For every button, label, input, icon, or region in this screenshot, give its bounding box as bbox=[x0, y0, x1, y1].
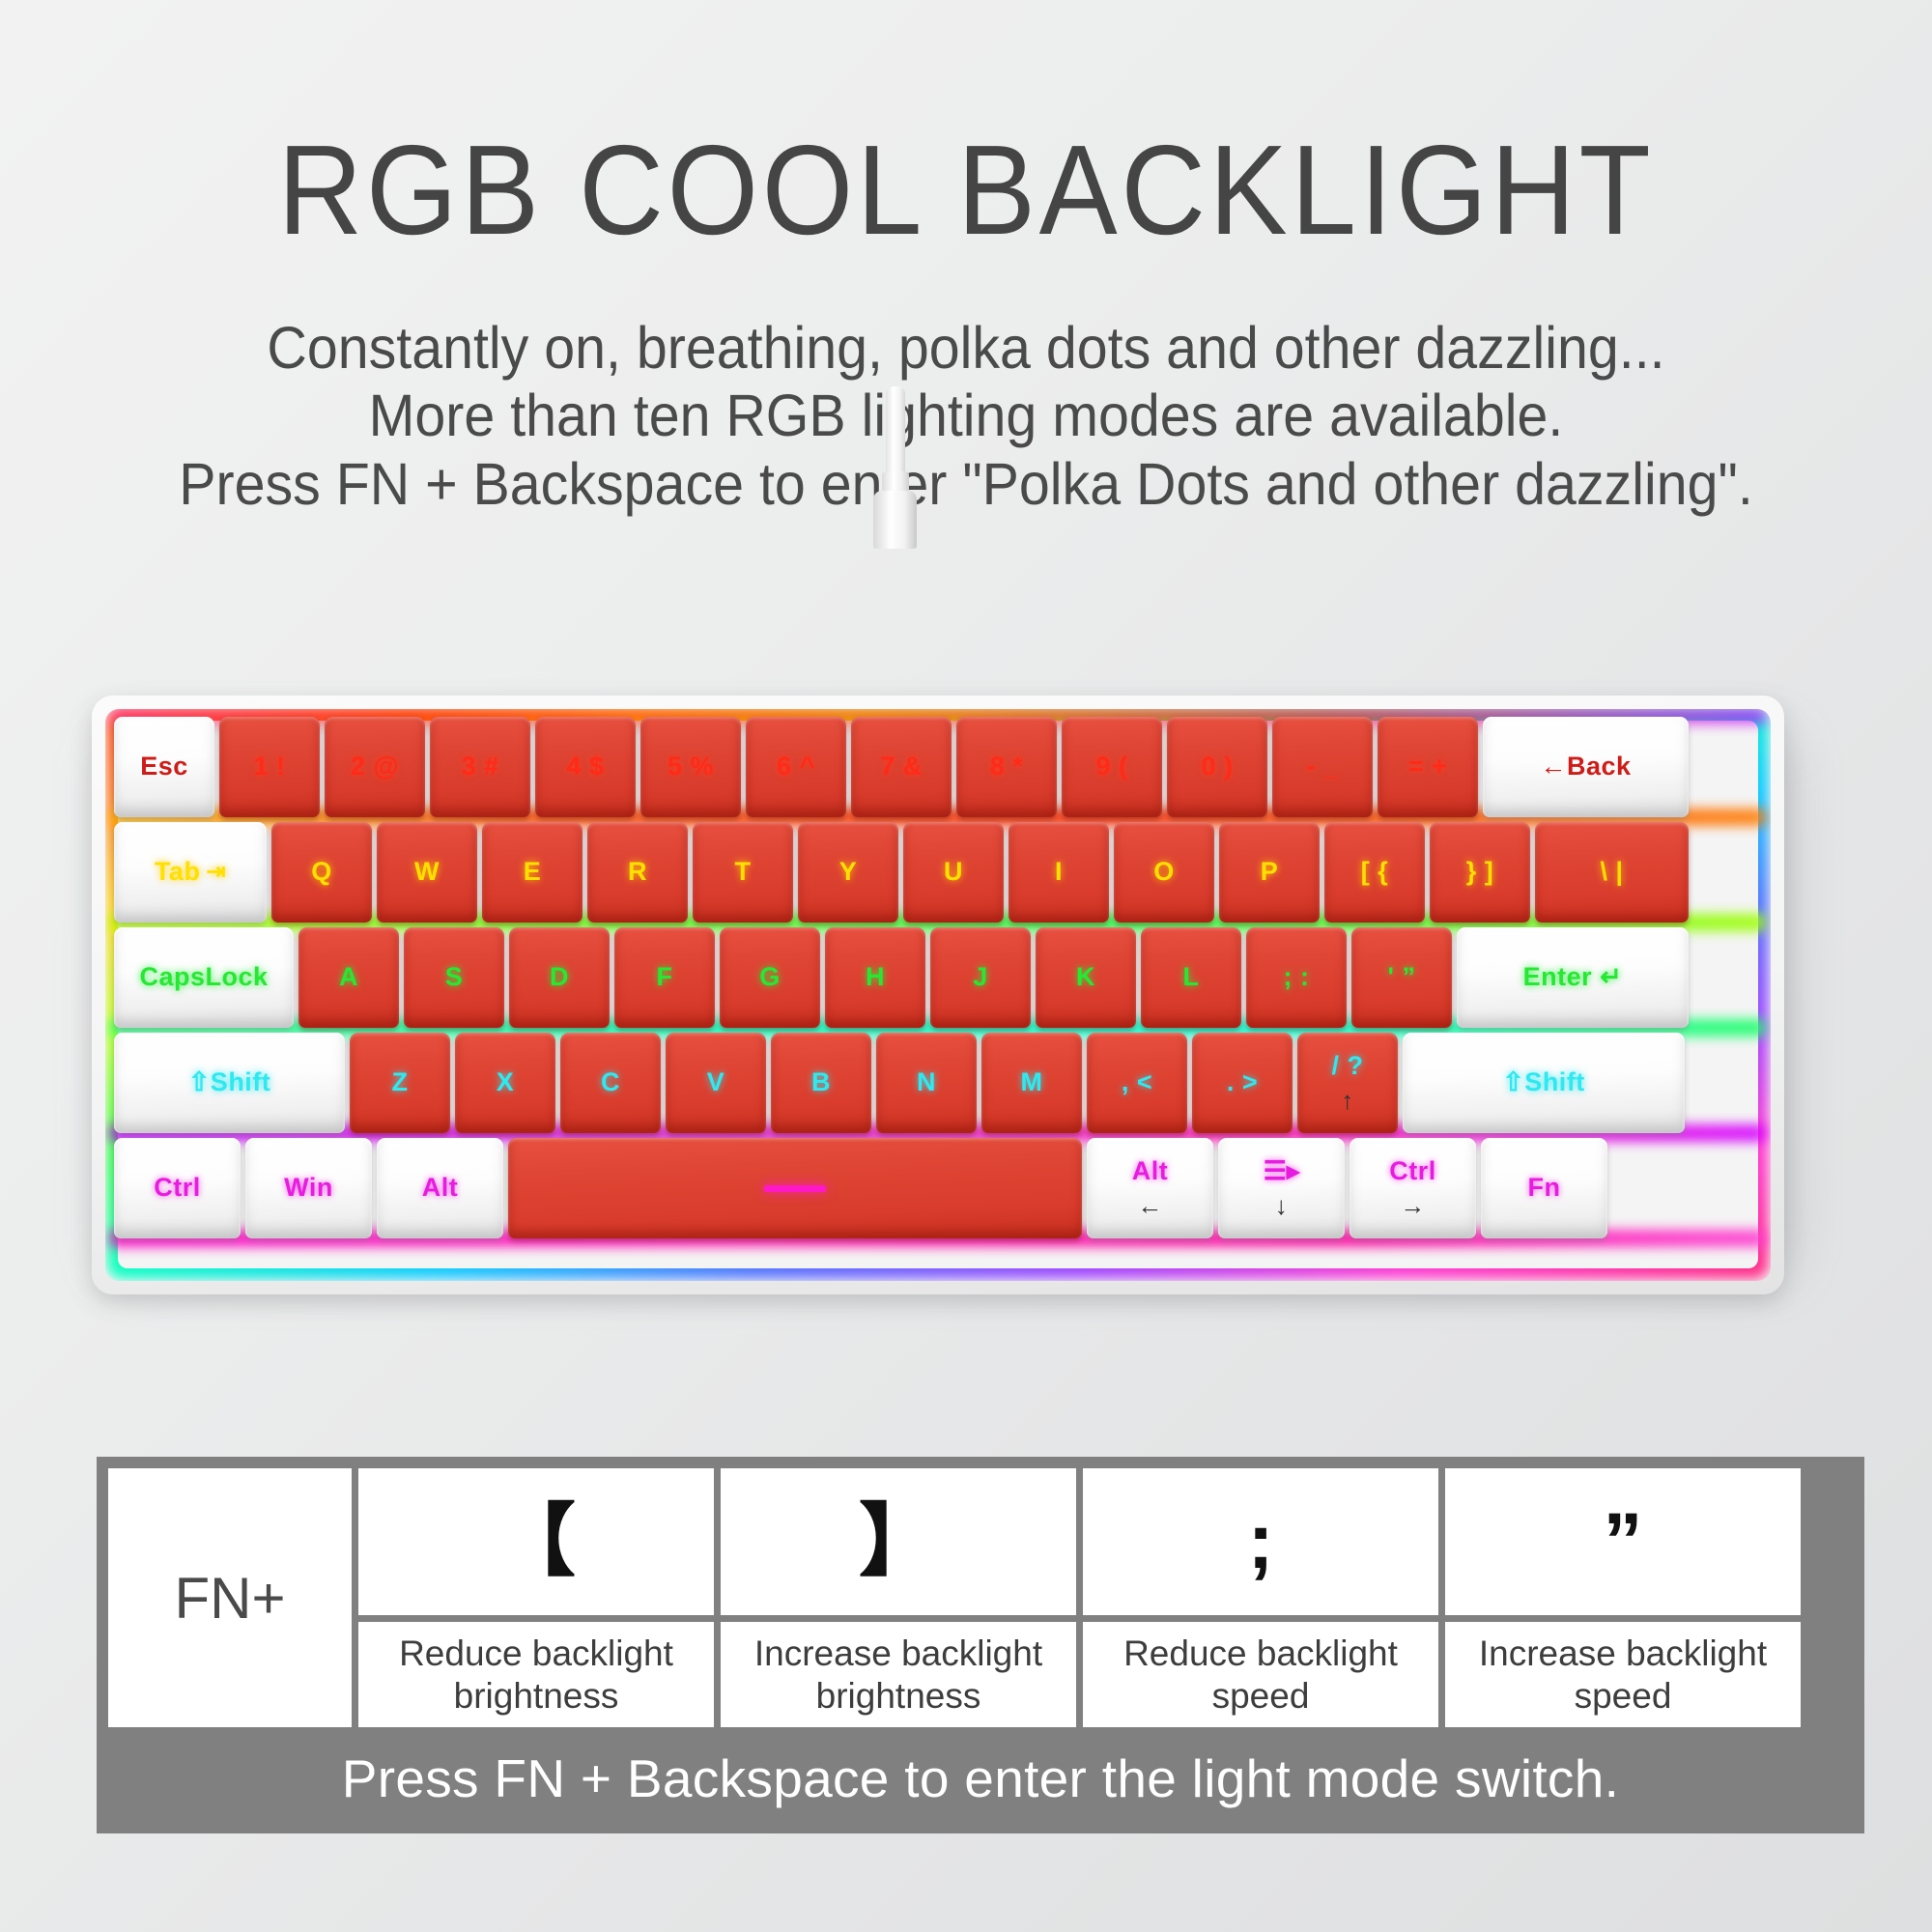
key-legend: W bbox=[414, 858, 440, 887]
key-alt[interactable]: Alt bbox=[377, 1138, 503, 1238]
keycap: E bbox=[482, 822, 582, 923]
key-g[interactable]: G bbox=[720, 927, 820, 1028]
key-legend: Ctrl bbox=[154, 1174, 201, 1203]
key-label: 4 $ bbox=[566, 753, 604, 781]
key-l[interactable]: L bbox=[1141, 927, 1241, 1028]
key-label: Fn bbox=[1528, 1174, 1561, 1203]
key-label: 0 ) bbox=[1201, 753, 1233, 781]
fn-entry-description: Reduce backlight brightness bbox=[358, 1622, 714, 1727]
keycap: [ { bbox=[1324, 822, 1425, 923]
keycap: Enter ↵ bbox=[1457, 927, 1689, 1028]
key-space[interactable]: ; : bbox=[1246, 927, 1347, 1028]
key-label: Tab bbox=[155, 858, 201, 887]
keycap: . > bbox=[1192, 1033, 1293, 1133]
key-label: W bbox=[414, 858, 440, 887]
key-6[interactable]: 6 ^ bbox=[746, 717, 846, 817]
keycap: Y bbox=[798, 822, 898, 923]
keycap: B bbox=[771, 1033, 871, 1133]
fn-grid: FN+ 【Reduce backlight brightness】Increas… bbox=[108, 1468, 1853, 1727]
keycap: K bbox=[1036, 927, 1136, 1028]
key-9[interactable]: 9 ( bbox=[1062, 717, 1162, 817]
key-legend: U bbox=[944, 858, 963, 887]
key-label: Alt bbox=[422, 1174, 459, 1203]
key-space[interactable]: / ?↑ bbox=[1297, 1033, 1398, 1133]
keycap: Q bbox=[271, 822, 372, 923]
key-label: K bbox=[1076, 963, 1095, 992]
header: RGB COOL BACKLIGHT Constantly on, breath… bbox=[0, 0, 1932, 519]
key-h[interactable]: H bbox=[825, 927, 925, 1028]
key-label: R bbox=[628, 858, 647, 887]
key-space[interactable] bbox=[508, 1138, 1082, 1238]
page-title: RGB COOL BACKLIGHT bbox=[77, 124, 1855, 258]
key-2[interactable]: 2 @ bbox=[325, 717, 425, 817]
keycap: P bbox=[1219, 822, 1320, 923]
key-legend: Z bbox=[392, 1068, 409, 1097]
key-legend: F bbox=[657, 963, 673, 992]
key-label: CapsLock bbox=[139, 963, 268, 992]
subtitle-line-1: Constantly on, breathing, polka dots and… bbox=[58, 314, 1874, 383]
fn-banner: Press FN + Backspace to enter the light … bbox=[108, 1737, 1853, 1820]
key-legend: 1 ! bbox=[253, 753, 285, 781]
key-alt[interactable]: Alt← bbox=[1087, 1138, 1213, 1238]
key-fn[interactable]: Fn bbox=[1481, 1138, 1607, 1238]
fn-entry-description: Reduce backlight speed bbox=[1083, 1622, 1438, 1727]
key-legend: T bbox=[735, 858, 752, 887]
key-3[interactable]: 3 # bbox=[430, 717, 530, 817]
key-legend: Ctrl bbox=[1389, 1157, 1436, 1186]
key-legend: 8 * bbox=[990, 753, 1024, 781]
key-back[interactable]: ←Back bbox=[1483, 717, 1689, 817]
keycap: 2 @ bbox=[325, 717, 425, 817]
key-label: F bbox=[657, 963, 673, 992]
key-j[interactable]: J bbox=[930, 927, 1031, 1028]
key-s[interactable]: S bbox=[404, 927, 504, 1028]
fn-entry-column-4: ”Increase backlight speed bbox=[1445, 1468, 1801, 1727]
key-space[interactable]: . > bbox=[1192, 1033, 1293, 1133]
key-e[interactable]: E bbox=[482, 822, 582, 923]
key-legend: Alt bbox=[422, 1174, 459, 1203]
keycap: 0 ) bbox=[1167, 717, 1267, 817]
key-label: Ctrl bbox=[1389, 1157, 1436, 1186]
menu-icon: ☰▸ bbox=[1264, 1157, 1300, 1186]
key-legend: C bbox=[601, 1068, 620, 1097]
key-x[interactable]: X bbox=[455, 1033, 555, 1133]
key-legend: Enter ↵ bbox=[1523, 963, 1623, 992]
key-legend: 6 ^ bbox=[777, 753, 815, 781]
key-r[interactable]: R bbox=[587, 822, 688, 923]
keycap: \ | bbox=[1535, 822, 1689, 923]
key-secondary-arrow-icon: → bbox=[1400, 1192, 1426, 1220]
fn-entry-key: ” bbox=[1445, 1468, 1801, 1615]
key-b[interactable]: B bbox=[771, 1033, 871, 1133]
key-n[interactable]: N bbox=[876, 1033, 977, 1133]
key-legend: [ { bbox=[1361, 858, 1389, 887]
key-legend: J bbox=[973, 963, 988, 992]
key-label: ⇧Shift bbox=[1502, 1068, 1585, 1097]
key-space[interactable]: = + bbox=[1378, 717, 1478, 817]
keycap: F bbox=[614, 927, 715, 1028]
key-label: Esc bbox=[140, 753, 188, 781]
keycap: N bbox=[876, 1033, 977, 1133]
keycap: Ctrl→ bbox=[1350, 1138, 1476, 1238]
key-q[interactable]: Q bbox=[271, 822, 372, 923]
key-legend: } ] bbox=[1466, 858, 1494, 887]
keycap: ' ” bbox=[1351, 927, 1452, 1028]
keycap: X bbox=[455, 1033, 555, 1133]
keycap: M bbox=[981, 1033, 1082, 1133]
key-shift[interactable]: ⇧Shift bbox=[114, 1033, 345, 1133]
keycap: ⇧Shift bbox=[1403, 1033, 1685, 1133]
key-label: Enter ↵ bbox=[1523, 963, 1623, 992]
key-space[interactable]: , < bbox=[1087, 1033, 1187, 1133]
key-legend: Fn bbox=[1528, 1174, 1561, 1203]
keycap: D bbox=[509, 927, 610, 1028]
key-label: ; : bbox=[1284, 963, 1310, 992]
fn-shortcut-table: FN+ 【Reduce backlight brightness】Increas… bbox=[97, 1457, 1864, 1833]
keycap: T bbox=[693, 822, 793, 923]
key-a[interactable]: A bbox=[298, 927, 399, 1028]
key-menu-icon[interactable]: ☰▸↓ bbox=[1218, 1138, 1345, 1238]
key-label: O bbox=[1153, 858, 1175, 887]
keyboard-row-shift-row: ⇧ShiftZXCVBNM, <. >/ ?↑⇧Shift bbox=[114, 1033, 1762, 1133]
keycap: C bbox=[560, 1033, 661, 1133]
fn-label-column: FN+ bbox=[108, 1468, 352, 1727]
key-label: D bbox=[550, 963, 569, 992]
key-label: J bbox=[973, 963, 988, 992]
key-space[interactable]: - _ bbox=[1272, 717, 1373, 817]
key-label: X bbox=[497, 1068, 515, 1097]
cable-plug bbox=[873, 491, 917, 549]
keycap: Win bbox=[245, 1138, 372, 1238]
key-t[interactable]: T bbox=[693, 822, 793, 923]
key-label: ' ” bbox=[1388, 963, 1416, 992]
key-legend: Q bbox=[311, 858, 332, 887]
key-p[interactable]: P bbox=[1219, 822, 1320, 923]
key-legend: I bbox=[1055, 858, 1063, 887]
key-legend: , < bbox=[1122, 1068, 1152, 1097]
keycap: 7 & bbox=[851, 717, 952, 817]
key-label: N bbox=[917, 1068, 936, 1097]
fn-entry-column-3: ;Reduce backlight speed bbox=[1083, 1468, 1438, 1727]
key-o[interactable]: O bbox=[1114, 822, 1214, 923]
keycap: 8 * bbox=[956, 717, 1057, 817]
key-label: - _ bbox=[1306, 753, 1338, 781]
fn-entry-key: ; bbox=[1083, 1468, 1438, 1615]
key-legend: 0 ) bbox=[1201, 753, 1233, 781]
keycap: ⇧Shift bbox=[114, 1033, 345, 1133]
key-label: G bbox=[759, 963, 781, 992]
key-legend: E bbox=[524, 858, 542, 887]
keycap bbox=[508, 1138, 1082, 1238]
keycap: 9 ( bbox=[1062, 717, 1162, 817]
key-legend: Tab⇥ bbox=[155, 858, 226, 887]
keycap: 6 ^ bbox=[746, 717, 846, 817]
keyboard-row-qwerty-row: Tab⇥QWERTYUIOP[ {} ]\ | bbox=[114, 822, 1762, 923]
key-legend bbox=[764, 1185, 826, 1192]
key-label: S bbox=[445, 963, 464, 992]
keycap: I bbox=[1009, 822, 1109, 923]
key-label: Win bbox=[284, 1174, 333, 1203]
key-label: 2 @ bbox=[351, 753, 399, 781]
keycap: Alt bbox=[377, 1138, 503, 1238]
fn-entry-description: Increase backlight brightness bbox=[721, 1622, 1076, 1727]
keycap: CapsLock bbox=[114, 927, 294, 1028]
key-space[interactable]: [ { bbox=[1324, 822, 1425, 923]
key-legend: V bbox=[707, 1068, 725, 1097]
key-ctrl[interactable]: Ctrl bbox=[114, 1138, 241, 1238]
key-ctrl[interactable]: Ctrl→ bbox=[1350, 1138, 1476, 1238]
keycap: S bbox=[404, 927, 504, 1028]
key-legend: G bbox=[759, 963, 781, 992]
key-label: L bbox=[1183, 963, 1200, 992]
key-legend: / ? bbox=[1332, 1052, 1364, 1081]
key-label: E bbox=[524, 858, 542, 887]
subtitle-line-2: More than ten RGB lighting modes are ava… bbox=[58, 382, 1874, 450]
key-capslock[interactable]: CapsLock bbox=[114, 927, 294, 1028]
key-k[interactable]: K bbox=[1036, 927, 1136, 1028]
key-legend: \ | bbox=[1600, 858, 1623, 887]
key-legend: 4 $ bbox=[566, 753, 604, 781]
key-enter[interactable]: Enter ↵ bbox=[1457, 927, 1689, 1028]
fn-entry-key: 【 bbox=[358, 1468, 714, 1615]
key-win[interactable]: Win bbox=[245, 1138, 372, 1238]
key-legend: CapsLock bbox=[139, 963, 268, 992]
key-legend: Alt bbox=[1132, 1157, 1169, 1186]
keycap: L bbox=[1141, 927, 1241, 1028]
key-i[interactable]: I bbox=[1009, 822, 1109, 923]
key-legend: S bbox=[445, 963, 464, 992]
key-legend: D bbox=[550, 963, 569, 992]
key-label: } ] bbox=[1466, 858, 1494, 887]
keycap: V bbox=[666, 1033, 766, 1133]
key-d[interactable]: D bbox=[509, 927, 610, 1028]
key-legend: 7 & bbox=[880, 753, 923, 781]
key-label: / ? bbox=[1332, 1052, 1364, 1081]
keycap: J bbox=[930, 927, 1031, 1028]
key-label: H bbox=[866, 963, 885, 992]
keycap: 1 ! bbox=[219, 717, 320, 817]
key-label: 9 ( bbox=[1095, 753, 1127, 781]
keycap: O bbox=[1114, 822, 1214, 923]
fn-entry-key: 】 bbox=[721, 1468, 1076, 1615]
key-y[interactable]: Y bbox=[798, 822, 898, 923]
key-legend: Esc bbox=[140, 753, 188, 781]
key-legend: X bbox=[497, 1068, 515, 1097]
key-tab[interactable]: Tab⇥ bbox=[114, 822, 267, 923]
key-label: V bbox=[707, 1068, 725, 1097]
keycap: ☰▸↓ bbox=[1218, 1138, 1345, 1238]
key-z[interactable]: Z bbox=[350, 1033, 450, 1133]
key-f[interactable]: F bbox=[614, 927, 715, 1028]
key-shift[interactable]: ⇧Shift bbox=[1403, 1033, 1685, 1133]
subtitle-line-3: Press FN + Backspace to enter "Polka Dot… bbox=[58, 450, 1874, 519]
key-legend: Win bbox=[284, 1174, 333, 1203]
keycap: Esc bbox=[114, 717, 214, 817]
keycap: Z bbox=[350, 1033, 450, 1133]
keyboard-row-number-row: Esc1 !2 @3 #4 $5 %6 ^7 &8 *9 (0 )- _= +←… bbox=[114, 717, 1762, 817]
keycap: G bbox=[720, 927, 820, 1028]
key-label: . > bbox=[1227, 1068, 1258, 1097]
keycap: H bbox=[825, 927, 925, 1028]
key-legend: ⇧Shift bbox=[188, 1068, 271, 1097]
key-u[interactable]: U bbox=[903, 822, 1004, 923]
key-legend: R bbox=[628, 858, 647, 887]
key-legend: 2 @ bbox=[351, 753, 399, 781]
key-label: C bbox=[601, 1068, 620, 1097]
key-m[interactable]: M bbox=[981, 1033, 1082, 1133]
keyboard-product-image: Esc1 !2 @3 #4 $5 %6 ^7 &8 *9 (0 )- _= +←… bbox=[92, 696, 1784, 1294]
key-legend: Y bbox=[839, 858, 858, 887]
key-legend: A bbox=[339, 963, 358, 992]
key-legend: ☰▸ bbox=[1264, 1157, 1300, 1186]
keycap: 3 # bbox=[430, 717, 530, 817]
keyboard-case: Esc1 !2 @3 #4 $5 %6 ^7 &8 *9 (0 )- _= +←… bbox=[105, 709, 1771, 1281]
key-secondary-arrow-icon: ↑ bbox=[1341, 1087, 1354, 1115]
key-label: [ { bbox=[1361, 858, 1389, 887]
key-label: T bbox=[735, 858, 752, 887]
keycap: Alt← bbox=[1087, 1138, 1213, 1238]
tab-arrows-icon: ⇥ bbox=[206, 860, 226, 885]
key-label: , < bbox=[1122, 1068, 1152, 1097]
key-label: Alt bbox=[1132, 1157, 1169, 1186]
key-legend: - _ bbox=[1306, 753, 1338, 781]
key-space[interactable]: \ | bbox=[1535, 822, 1689, 923]
keycap: Tab⇥ bbox=[114, 822, 267, 923]
key-label: 8 * bbox=[990, 753, 1024, 781]
key-label: 3 # bbox=[461, 753, 498, 781]
key-legend: . > bbox=[1227, 1068, 1258, 1097]
key-legend: 3 # bbox=[461, 753, 498, 781]
usb-c-cable-icon bbox=[872, 386, 917, 541]
key-secondary-arrow-icon: ← bbox=[1137, 1192, 1163, 1220]
key-legend: 9 ( bbox=[1095, 753, 1127, 781]
key-space[interactable]: ' ” bbox=[1351, 927, 1452, 1028]
keycap: Fn bbox=[1481, 1138, 1607, 1238]
key-label: 1 ! bbox=[253, 753, 285, 781]
key-legend: K bbox=[1076, 963, 1095, 992]
keyboard-row-home-row: CapsLockASDFGHJKL; :' ”Enter ↵ bbox=[114, 927, 1762, 1028]
keycap: ; : bbox=[1246, 927, 1347, 1028]
fn-entry-column-1: 【Reduce backlight brightness bbox=[358, 1468, 714, 1727]
key-7[interactable]: 7 & bbox=[851, 717, 952, 817]
keycap: , < bbox=[1087, 1033, 1187, 1133]
keyboard-row-modifier-row: CtrlWinAltAlt←☰▸↓Ctrl→Fn bbox=[114, 1138, 1762, 1238]
key-label: I bbox=[1055, 858, 1063, 887]
key-label: Ctrl bbox=[154, 1174, 201, 1203]
keycap: / ?↑ bbox=[1297, 1033, 1398, 1133]
keycap: ←Back bbox=[1483, 717, 1689, 817]
key-legend: ⇧Shift bbox=[1502, 1068, 1585, 1097]
key-label: = + bbox=[1408, 753, 1448, 781]
key-legend: L bbox=[1183, 963, 1200, 992]
key-c[interactable]: C bbox=[560, 1033, 661, 1133]
keycap: Ctrl bbox=[114, 1138, 241, 1238]
key-legend: B bbox=[811, 1068, 831, 1097]
keycap: R bbox=[587, 822, 688, 923]
key-legend: H bbox=[866, 963, 885, 992]
key-legend: ' ” bbox=[1388, 963, 1416, 992]
key-1[interactable]: 1 ! bbox=[219, 717, 320, 817]
key-label: A bbox=[339, 963, 358, 992]
keycap: - _ bbox=[1272, 717, 1373, 817]
fn-entry-column-2: 】Increase backlight brightness bbox=[721, 1468, 1076, 1727]
keycap: 4 $ bbox=[535, 717, 636, 817]
key-label: Z bbox=[392, 1068, 409, 1097]
key-label: 7 & bbox=[880, 753, 923, 781]
key-legend: M bbox=[1021, 1068, 1043, 1097]
key-8[interactable]: 8 * bbox=[956, 717, 1057, 817]
key-label: Q bbox=[311, 858, 332, 887]
spacebar-indicator bbox=[764, 1185, 826, 1192]
keycap: 5 % bbox=[640, 717, 741, 817]
key-secondary-arrow-icon: ↓ bbox=[1275, 1192, 1289, 1220]
key-legend: O bbox=[1153, 858, 1175, 887]
fn-plus-label: FN+ bbox=[108, 1468, 352, 1727]
key-space[interactable]: } ] bbox=[1430, 822, 1530, 923]
key-label: \ | bbox=[1600, 858, 1623, 887]
key-4[interactable]: 4 $ bbox=[535, 717, 636, 817]
key-label: M bbox=[1021, 1068, 1043, 1097]
key-label: U bbox=[944, 858, 963, 887]
key-label: Y bbox=[839, 858, 858, 887]
key-label: 6 ^ bbox=[777, 753, 815, 781]
key-5[interactable]: 5 % bbox=[640, 717, 741, 817]
fn-entry-description: Increase backlight speed bbox=[1445, 1622, 1801, 1727]
keycap: = + bbox=[1378, 717, 1478, 817]
key-legend: = + bbox=[1408, 753, 1448, 781]
key-legend: N bbox=[917, 1068, 936, 1097]
key-matrix: Esc1 !2 @3 #4 $5 %6 ^7 &8 *9 (0 )- _= +←… bbox=[114, 717, 1762, 1273]
keycap: W bbox=[377, 822, 477, 923]
key-0[interactable]: 0 ) bbox=[1167, 717, 1267, 817]
keycap: U bbox=[903, 822, 1004, 923]
key-legend: ; : bbox=[1284, 963, 1310, 992]
key-v[interactable]: V bbox=[666, 1033, 766, 1133]
key-label: P bbox=[1261, 858, 1279, 887]
key-esc[interactable]: Esc bbox=[114, 717, 214, 817]
keycap: } ] bbox=[1430, 822, 1530, 923]
key-w[interactable]: W bbox=[377, 822, 477, 923]
key-label: ←Back bbox=[1540, 753, 1631, 781]
key-legend: 5 % bbox=[668, 753, 714, 781]
key-label: 5 % bbox=[668, 753, 714, 781]
key-legend: P bbox=[1261, 858, 1279, 887]
key-legend: ←Back bbox=[1540, 753, 1631, 781]
key-label: ⇧Shift bbox=[188, 1068, 271, 1097]
keycap: A bbox=[298, 927, 399, 1028]
key-label: B bbox=[811, 1068, 831, 1097]
